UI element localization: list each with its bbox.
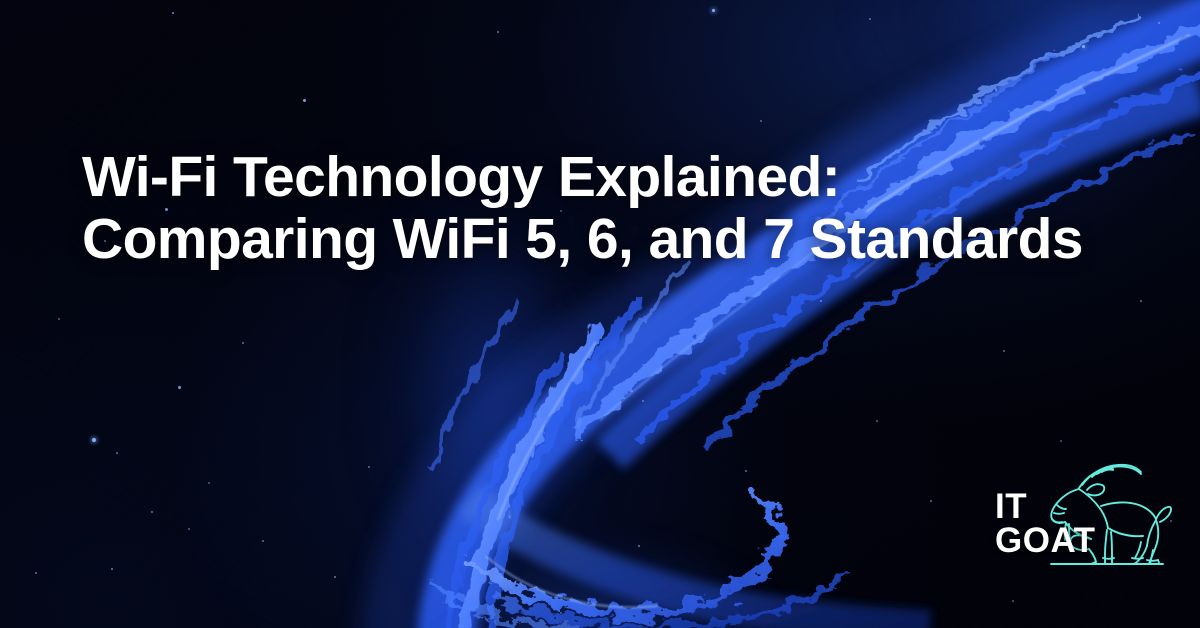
banner-title: Wi-Fi Technology Explained: Comparing Wi… (82, 146, 1142, 270)
social-share-banner: Wi-Fi Technology Explained: Comparing Wi… (0, 0, 1200, 628)
logo-wordmark: IT GOAT (995, 490, 1096, 558)
itgoat-logo[interactable]: IT GOAT (995, 462, 1175, 582)
